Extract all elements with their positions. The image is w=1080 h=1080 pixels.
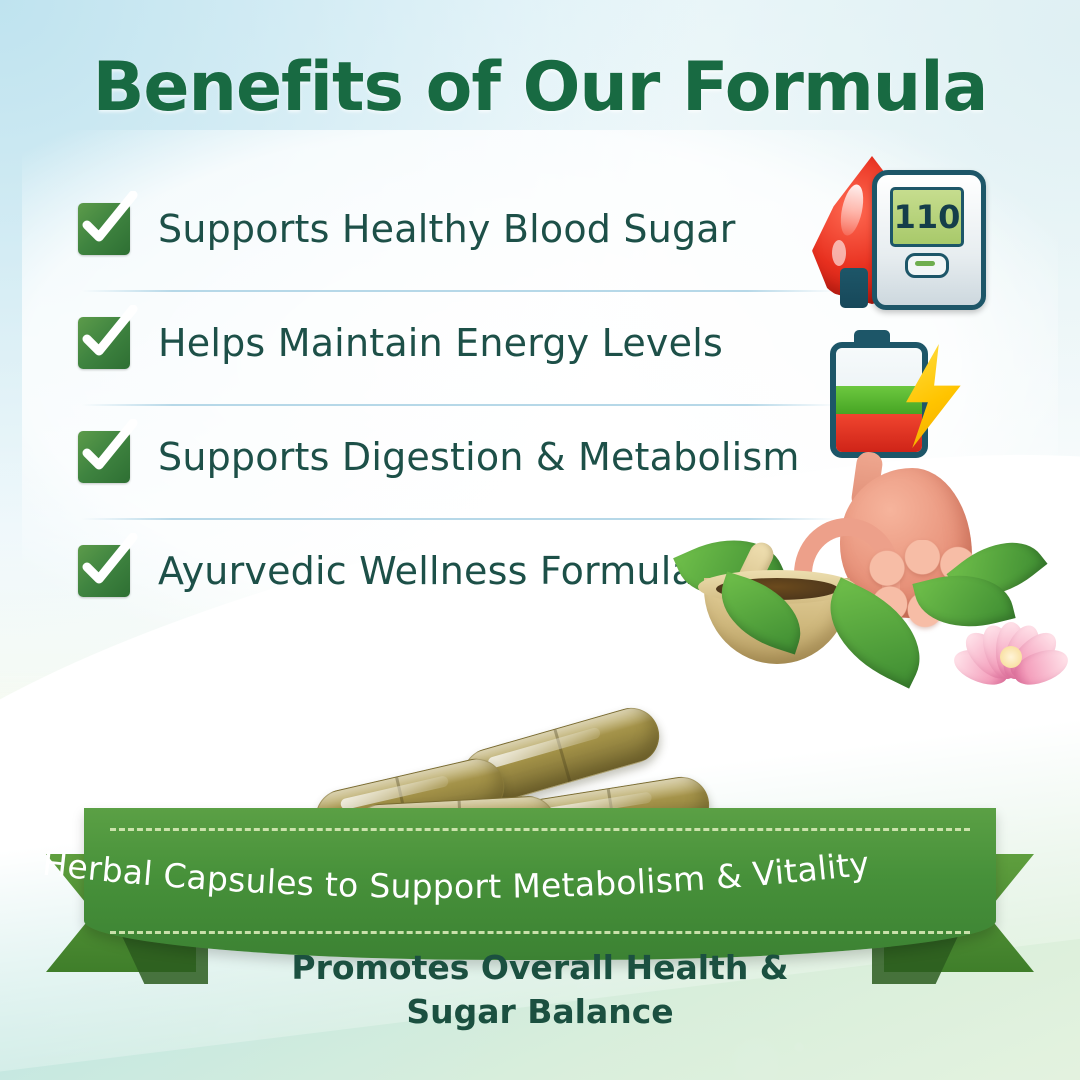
list-item-label: Supports Healthy Blood Sugar (158, 207, 736, 251)
glucose-meter-icon: 110 (806, 148, 996, 323)
battery-level-red (836, 414, 922, 452)
list-item: Helps Maintain Energy Levels (78, 300, 838, 414)
glucometer-button (905, 253, 949, 278)
battery-lightning-icon (808, 328, 988, 458)
svg-text:Herbal Capsules to Support Met: Herbal Capsules to Support Metabolism & … (41, 844, 872, 906)
mortar-pestle-herbs-digestion-icon (668, 452, 1080, 702)
footer-tagline: Promotes Overall Health & Sugar Balance (0, 946, 1080, 1033)
tagline-line-2: Sugar Balance (0, 990, 1080, 1034)
tagline-line-1: Promotes Overall Health & (0, 946, 1080, 990)
green-check-icon (78, 317, 130, 369)
list-divider (82, 404, 838, 406)
green-check-icon (78, 203, 130, 255)
ribbon-text-wrap: Herbal Capsules to Support Metabolism & … (0, 796, 912, 948)
blood-drop-highlight-small (832, 240, 846, 266)
glucometer-test-strip (840, 268, 868, 308)
list-item: Supports Healthy Blood Sugar (78, 186, 838, 300)
glucometer-body: 110 (872, 170, 986, 310)
list-divider (82, 290, 838, 292)
page-title: Benefits of Our Formula (0, 48, 1080, 127)
ribbon-text: Herbal Capsules to Support Metabolism & … (41, 844, 872, 906)
lotus-center (1000, 646, 1022, 668)
green-check-icon (78, 431, 130, 483)
list-item-label: Ayurvedic Wellness Formula (158, 549, 695, 593)
lotus-flower-icon (950, 602, 1068, 680)
list-item-label: Helps Maintain Energy Levels (158, 321, 723, 365)
glucometer-reading: 110 (890, 187, 964, 247)
green-check-icon (78, 545, 130, 597)
benefits-poster: Benefits of Our Formula Supports Healthy… (0, 0, 1080, 1080)
